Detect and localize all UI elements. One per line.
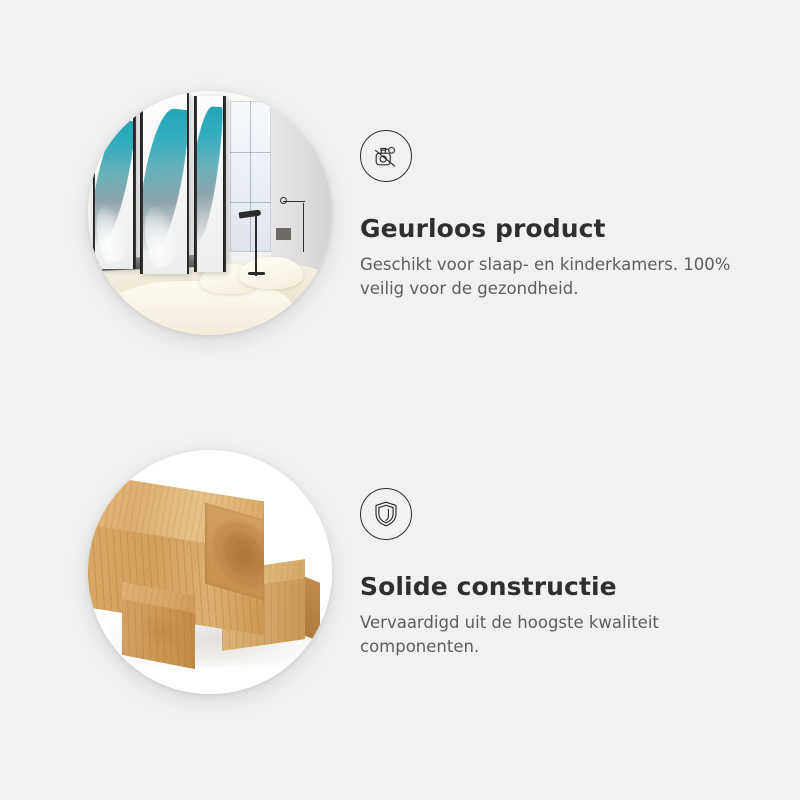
feature-title: Solide constructie — [360, 573, 760, 602]
wooden-blocks-scene — [88, 450, 332, 694]
feather-wisp — [140, 202, 186, 270]
product-features-page: Geurloos product Geschikt voor slaap- en… — [0, 0, 800, 800]
panel-edge — [93, 98, 96, 269]
window-mullion — [250, 101, 251, 252]
bedroom-scene — [88, 91, 332, 335]
art-panel-center — [140, 93, 189, 274]
wood-beam-end-grain — [205, 503, 264, 600]
night-stand — [276, 228, 291, 240]
feature-text-column: Solide constructie Vervaardigd uit de ho… — [360, 488, 760, 660]
floor-lamp-base — [248, 272, 265, 275]
art-panel-right — [194, 96, 226, 272]
wooden-blocks-photo — [88, 450, 332, 694]
no-fragrance-icon — [360, 130, 412, 182]
panel-edge — [223, 96, 226, 272]
feature-photo-wrapper — [88, 91, 332, 335]
feather-graphic — [194, 106, 223, 245]
wall-lamp-arm — [283, 201, 305, 202]
bed-duvet — [103, 281, 293, 335]
floor-lamp-pole — [255, 213, 256, 276]
room-window — [230, 101, 271, 252]
bedroom-feather-wall-art-photo — [88, 91, 332, 335]
panel-edge — [194, 96, 197, 272]
feature-block-solid-construction: Solide constructie Vervaardigd uit de ho… — [0, 400, 800, 800]
shield-icon — [360, 488, 412, 540]
wall-lamp-cord — [303, 203, 304, 252]
feature-description: Vervaardigd uit de hoogste kwaliteit com… — [360, 611, 746, 660]
panel-edge — [133, 98, 136, 269]
panel-edge — [187, 93, 190, 274]
panel-edge — [140, 93, 143, 274]
feature-title: Geurloos product — [360, 215, 760, 244]
feature-photo-wrapper — [88, 450, 332, 694]
feather-wisp — [93, 201, 134, 265]
feature-text-column: Geurloos product Geschikt voor slaap- en… — [360, 130, 760, 302]
art-panel-left — [93, 98, 136, 269]
feature-description: Geschikt voor slaap- en kinderkamers. 10… — [360, 253, 746, 302]
feature-block-odourless: Geurloos product Geschikt voor slaap- en… — [0, 0, 800, 400]
